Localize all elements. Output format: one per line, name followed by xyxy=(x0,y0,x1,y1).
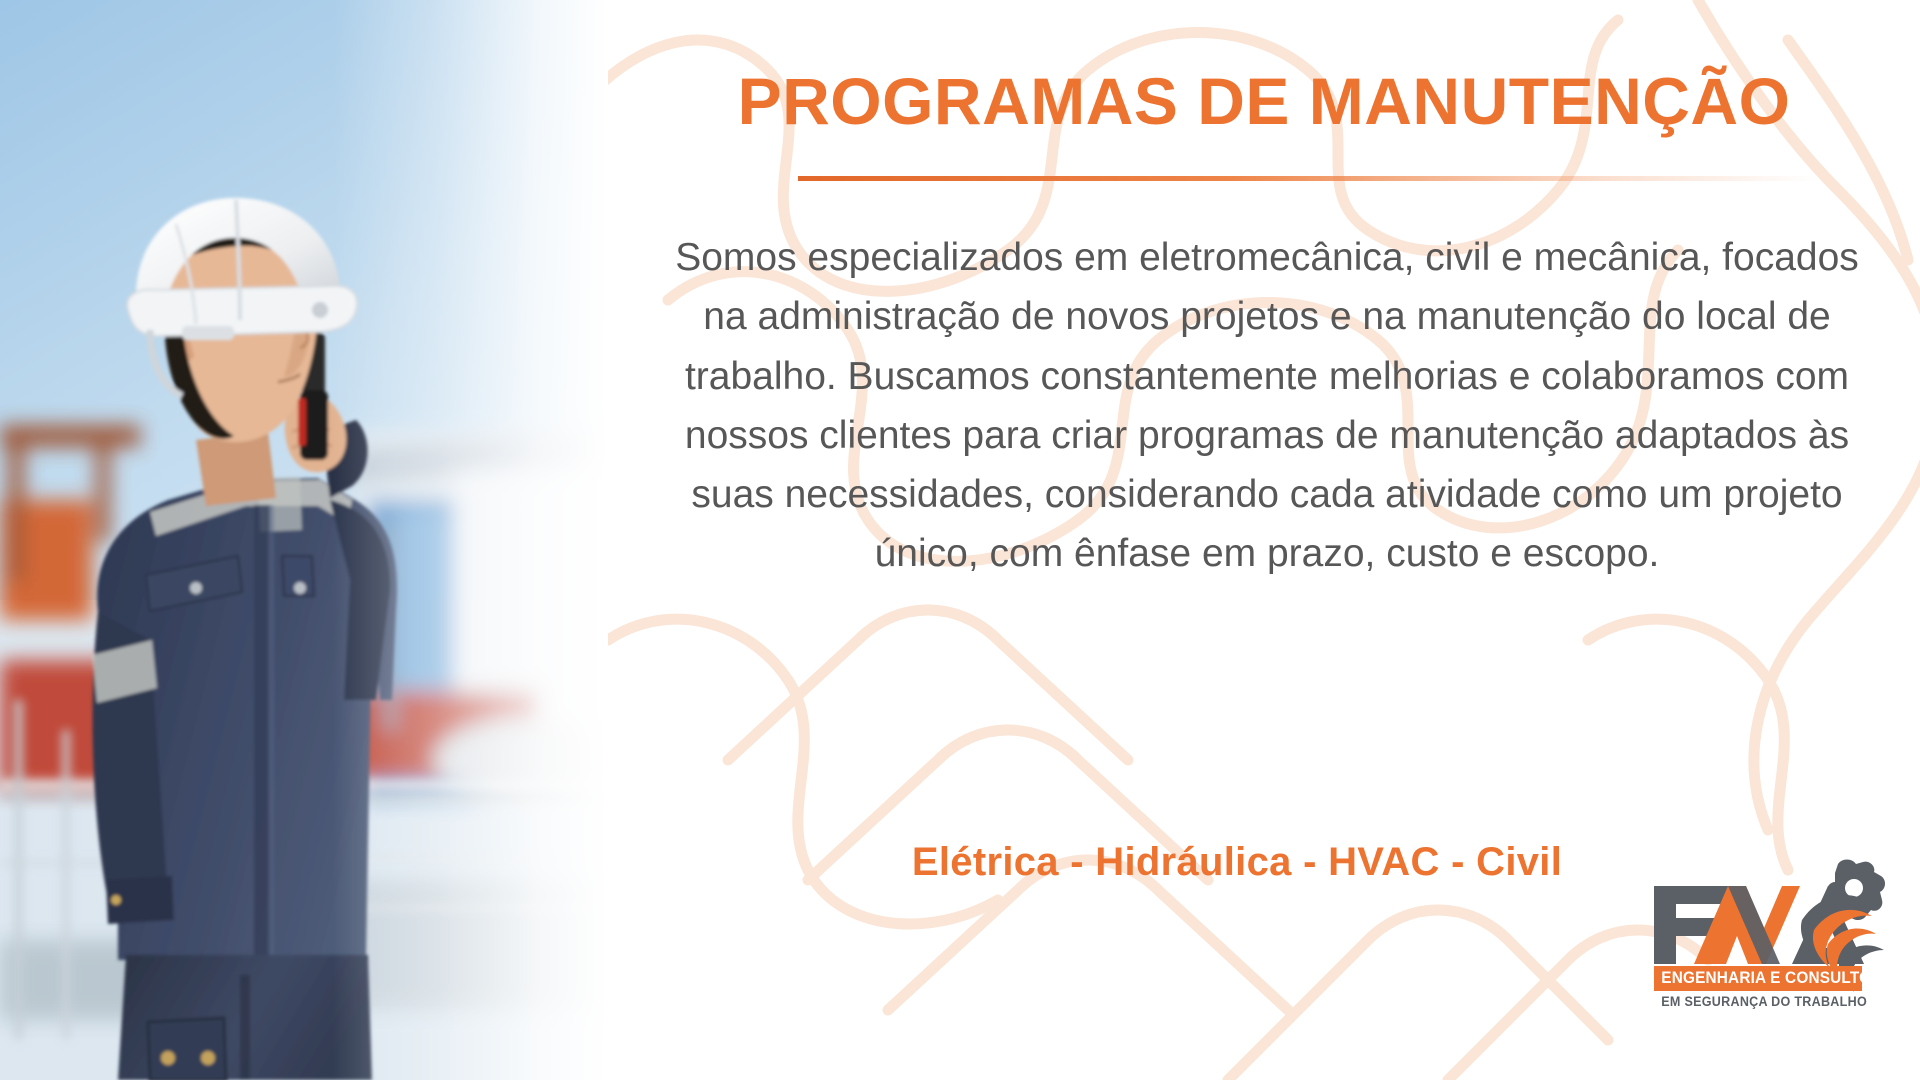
title-underline-rule xyxy=(798,176,1818,181)
body-paragraph: Somos especializados em eletromecânica, … xyxy=(662,228,1872,584)
logo-bar-text: ENGENHARIA E CONSULTORIA xyxy=(1661,966,1854,991)
fma-logo-mark xyxy=(1642,858,1900,1040)
content-pane: PROGRAMAS DE MANUTENÇÃO Somos especializ… xyxy=(608,0,1920,1080)
slide-canvas: PROGRAMAS DE MANUTENÇÃO Somos especializ… xyxy=(0,0,1920,1080)
hero-photo xyxy=(0,0,640,1080)
company-logo: ENGENHARIA E CONSULTORIA EM SEGURANÇA DO… xyxy=(1642,858,1900,1040)
worker-photo-illustration xyxy=(0,0,640,1080)
title-block: PROGRAMAS DE MANUTENÇÃO xyxy=(608,68,1920,135)
logo-sub-text: EM SEGURANÇA DO TRABALHO xyxy=(1661,994,1854,1009)
services-subtitle: Elétrica - Hidráulica - HVAC - Civil xyxy=(662,840,1812,885)
page-title: PROGRAMAS DE MANUTENÇÃO xyxy=(608,68,1920,135)
body-block: Somos especializados em eletromecânica, … xyxy=(662,228,1872,584)
